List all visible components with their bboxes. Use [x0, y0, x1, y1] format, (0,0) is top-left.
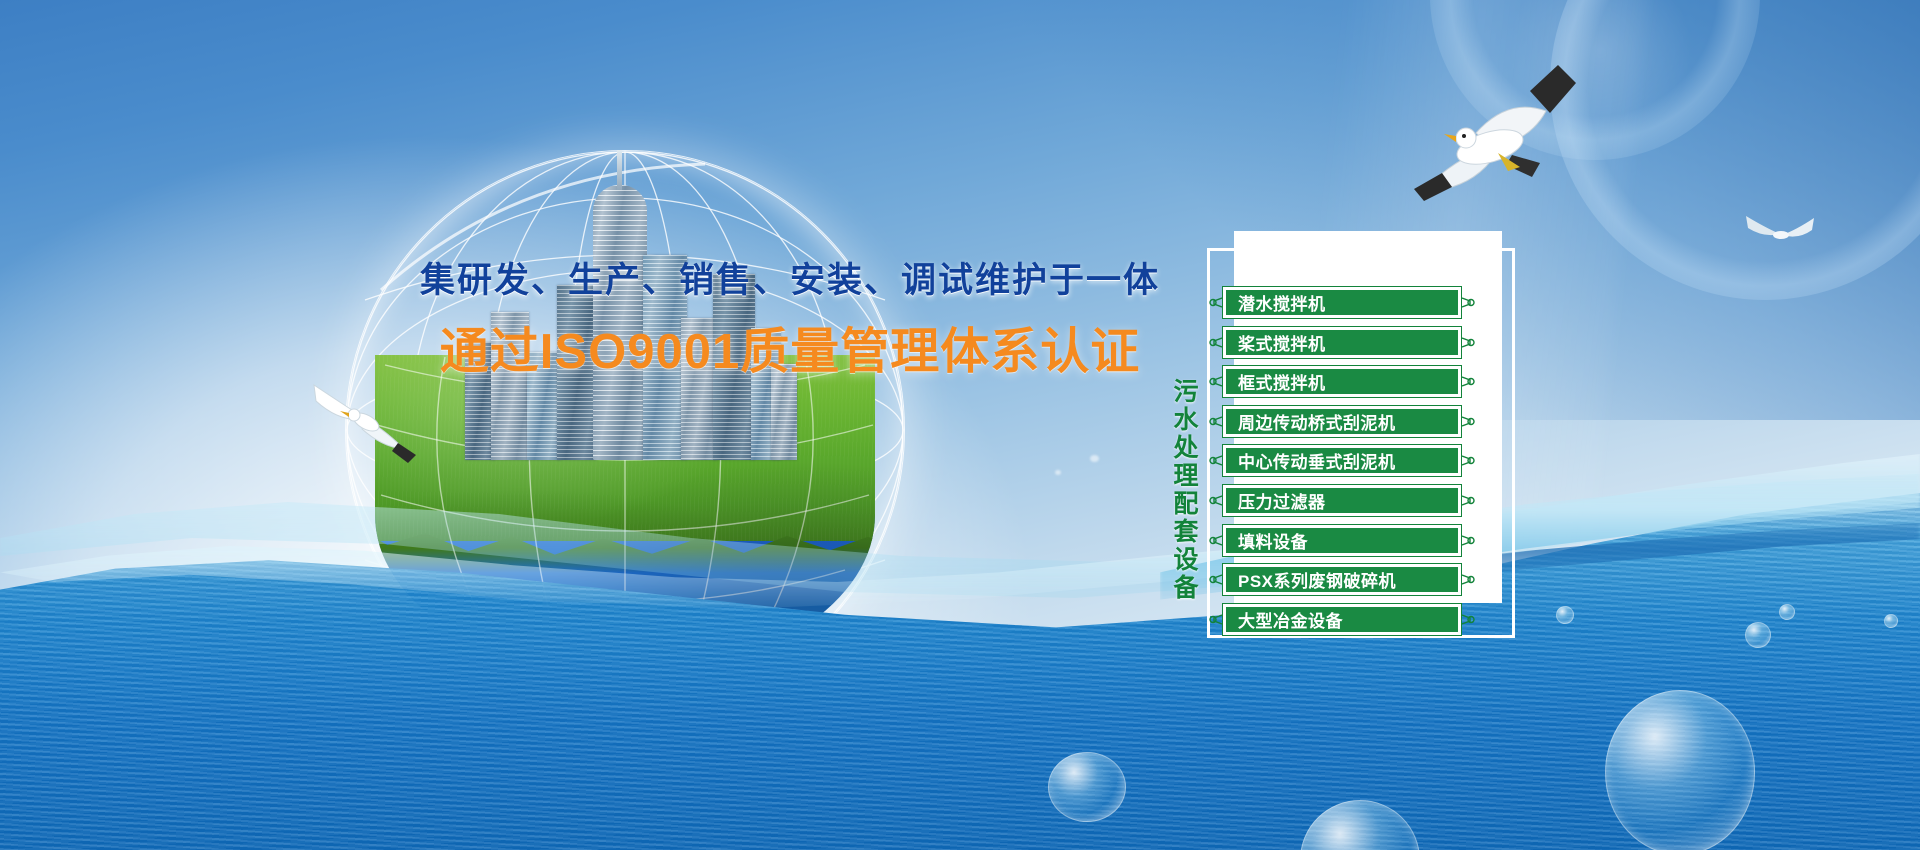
product-item-fill: 周边传动桥式刮泥机	[1226, 409, 1458, 434]
seagull-small-far-right-icon	[1740, 210, 1820, 256]
product-list-item[interactable]: 周边传动桥式刮泥机	[1222, 405, 1462, 438]
ribbon-ear-right-icon	[1462, 296, 1475, 309]
product-item-label: 潜水搅拌机	[1226, 290, 1326, 315]
ribbon-ear-left-icon	[1209, 494, 1222, 507]
ribbon-ear-left-icon	[1209, 336, 1222, 349]
product-item-label: 大型冶金设备	[1226, 607, 1343, 632]
seagull-large-right-icon	[1380, 55, 1640, 205]
water-droplet	[1055, 470, 1061, 475]
product-item-fill: 压力过滤器	[1226, 488, 1458, 513]
headline-primary: 集研发、生产、销售、安装、调试维护于一体	[380, 252, 1200, 303]
product-item-fill: PSX系列废钢破碎机	[1226, 567, 1458, 592]
ribbon-ear-right-icon	[1462, 454, 1475, 467]
ribbon-ear-right-icon	[1462, 336, 1475, 349]
product-item-fill: 大型冶金设备	[1226, 607, 1458, 632]
ribbon-ear-left-icon	[1209, 454, 1222, 467]
product-list-item[interactable]: 填料设备	[1222, 524, 1462, 557]
ribbon-ear-left-icon	[1209, 375, 1222, 388]
product-item-label: 压力过滤器	[1226, 488, 1326, 513]
tower-spire	[617, 150, 622, 190]
headline-block: 集研发、生产、销售、安装、调试维护于一体 通过ISO9001质量管理体系认证	[380, 252, 1200, 383]
ribbon-ear-left-icon	[1209, 415, 1222, 428]
water-bubble	[1048, 752, 1126, 822]
product-item-fill: 填料设备	[1226, 528, 1458, 553]
ribbon-ear-right-icon	[1462, 415, 1475, 428]
product-list-item[interactable]: 潜水搅拌机	[1222, 286, 1462, 319]
product-list-item[interactable]: 桨式搅拌机	[1222, 326, 1462, 359]
product-item-fill: 桨式搅拌机	[1226, 330, 1458, 355]
ribbon-ear-left-icon	[1209, 534, 1222, 547]
ribbon-ear-left-icon	[1209, 296, 1222, 309]
ribbon-ear-right-icon	[1462, 613, 1475, 626]
water-bubble	[1884, 614, 1898, 628]
promo-banner: 集研发、生产、销售、安装、调试维护于一体 通过ISO9001质量管理体系认证 污…	[0, 0, 1920, 850]
product-list-item[interactable]: 大型冶金设备	[1222, 603, 1462, 636]
water-bubble	[1605, 690, 1755, 850]
water-droplet	[1090, 455, 1099, 462]
ribbon-ear-left-icon	[1209, 613, 1222, 626]
product-item-label: PSX系列废钢破碎机	[1226, 567, 1396, 592]
water-bubble	[1556, 606, 1574, 624]
product-list-item[interactable]: 中心传动垂式刮泥机	[1222, 444, 1462, 477]
water-bubble	[1779, 604, 1795, 620]
headline-secondary: 通过ISO9001质量管理体系认证	[380, 312, 1200, 383]
product-list-item[interactable]: PSX系列废钢破碎机	[1222, 563, 1462, 596]
product-item-fill: 框式搅拌机	[1226, 369, 1458, 394]
product-list-item[interactable]: 压力过滤器	[1222, 484, 1462, 517]
ribbon-ear-right-icon	[1462, 375, 1475, 388]
product-list: 潜水搅拌机 桨式搅拌机 框式搅拌机 周边传动桥式刮泥机 中心传动垂式刮泥机 压力…	[1222, 286, 1462, 642]
water-bubble	[1745, 622, 1771, 648]
product-item-label: 周边传动桥式刮泥机	[1226, 409, 1396, 434]
product-item-label: 中心传动垂式刮泥机	[1226, 448, 1396, 473]
product-panel-vertical-label: 污水处理配套设备	[1168, 378, 1202, 602]
product-item-fill: 潜水搅拌机	[1226, 290, 1458, 315]
product-item-label: 框式搅拌机	[1226, 369, 1326, 394]
product-list-item[interactable]: 框式搅拌机	[1222, 365, 1462, 398]
seagull-left-icon	[310, 375, 430, 465]
ribbon-ear-right-icon	[1462, 534, 1475, 547]
ribbon-ear-right-icon	[1462, 573, 1475, 586]
product-item-fill: 中心传动垂式刮泥机	[1226, 448, 1458, 473]
product-item-label: 填料设备	[1226, 528, 1308, 553]
product-item-label: 桨式搅拌机	[1226, 330, 1326, 355]
ribbon-ear-left-icon	[1209, 573, 1222, 586]
ribbon-ear-right-icon	[1462, 494, 1475, 507]
